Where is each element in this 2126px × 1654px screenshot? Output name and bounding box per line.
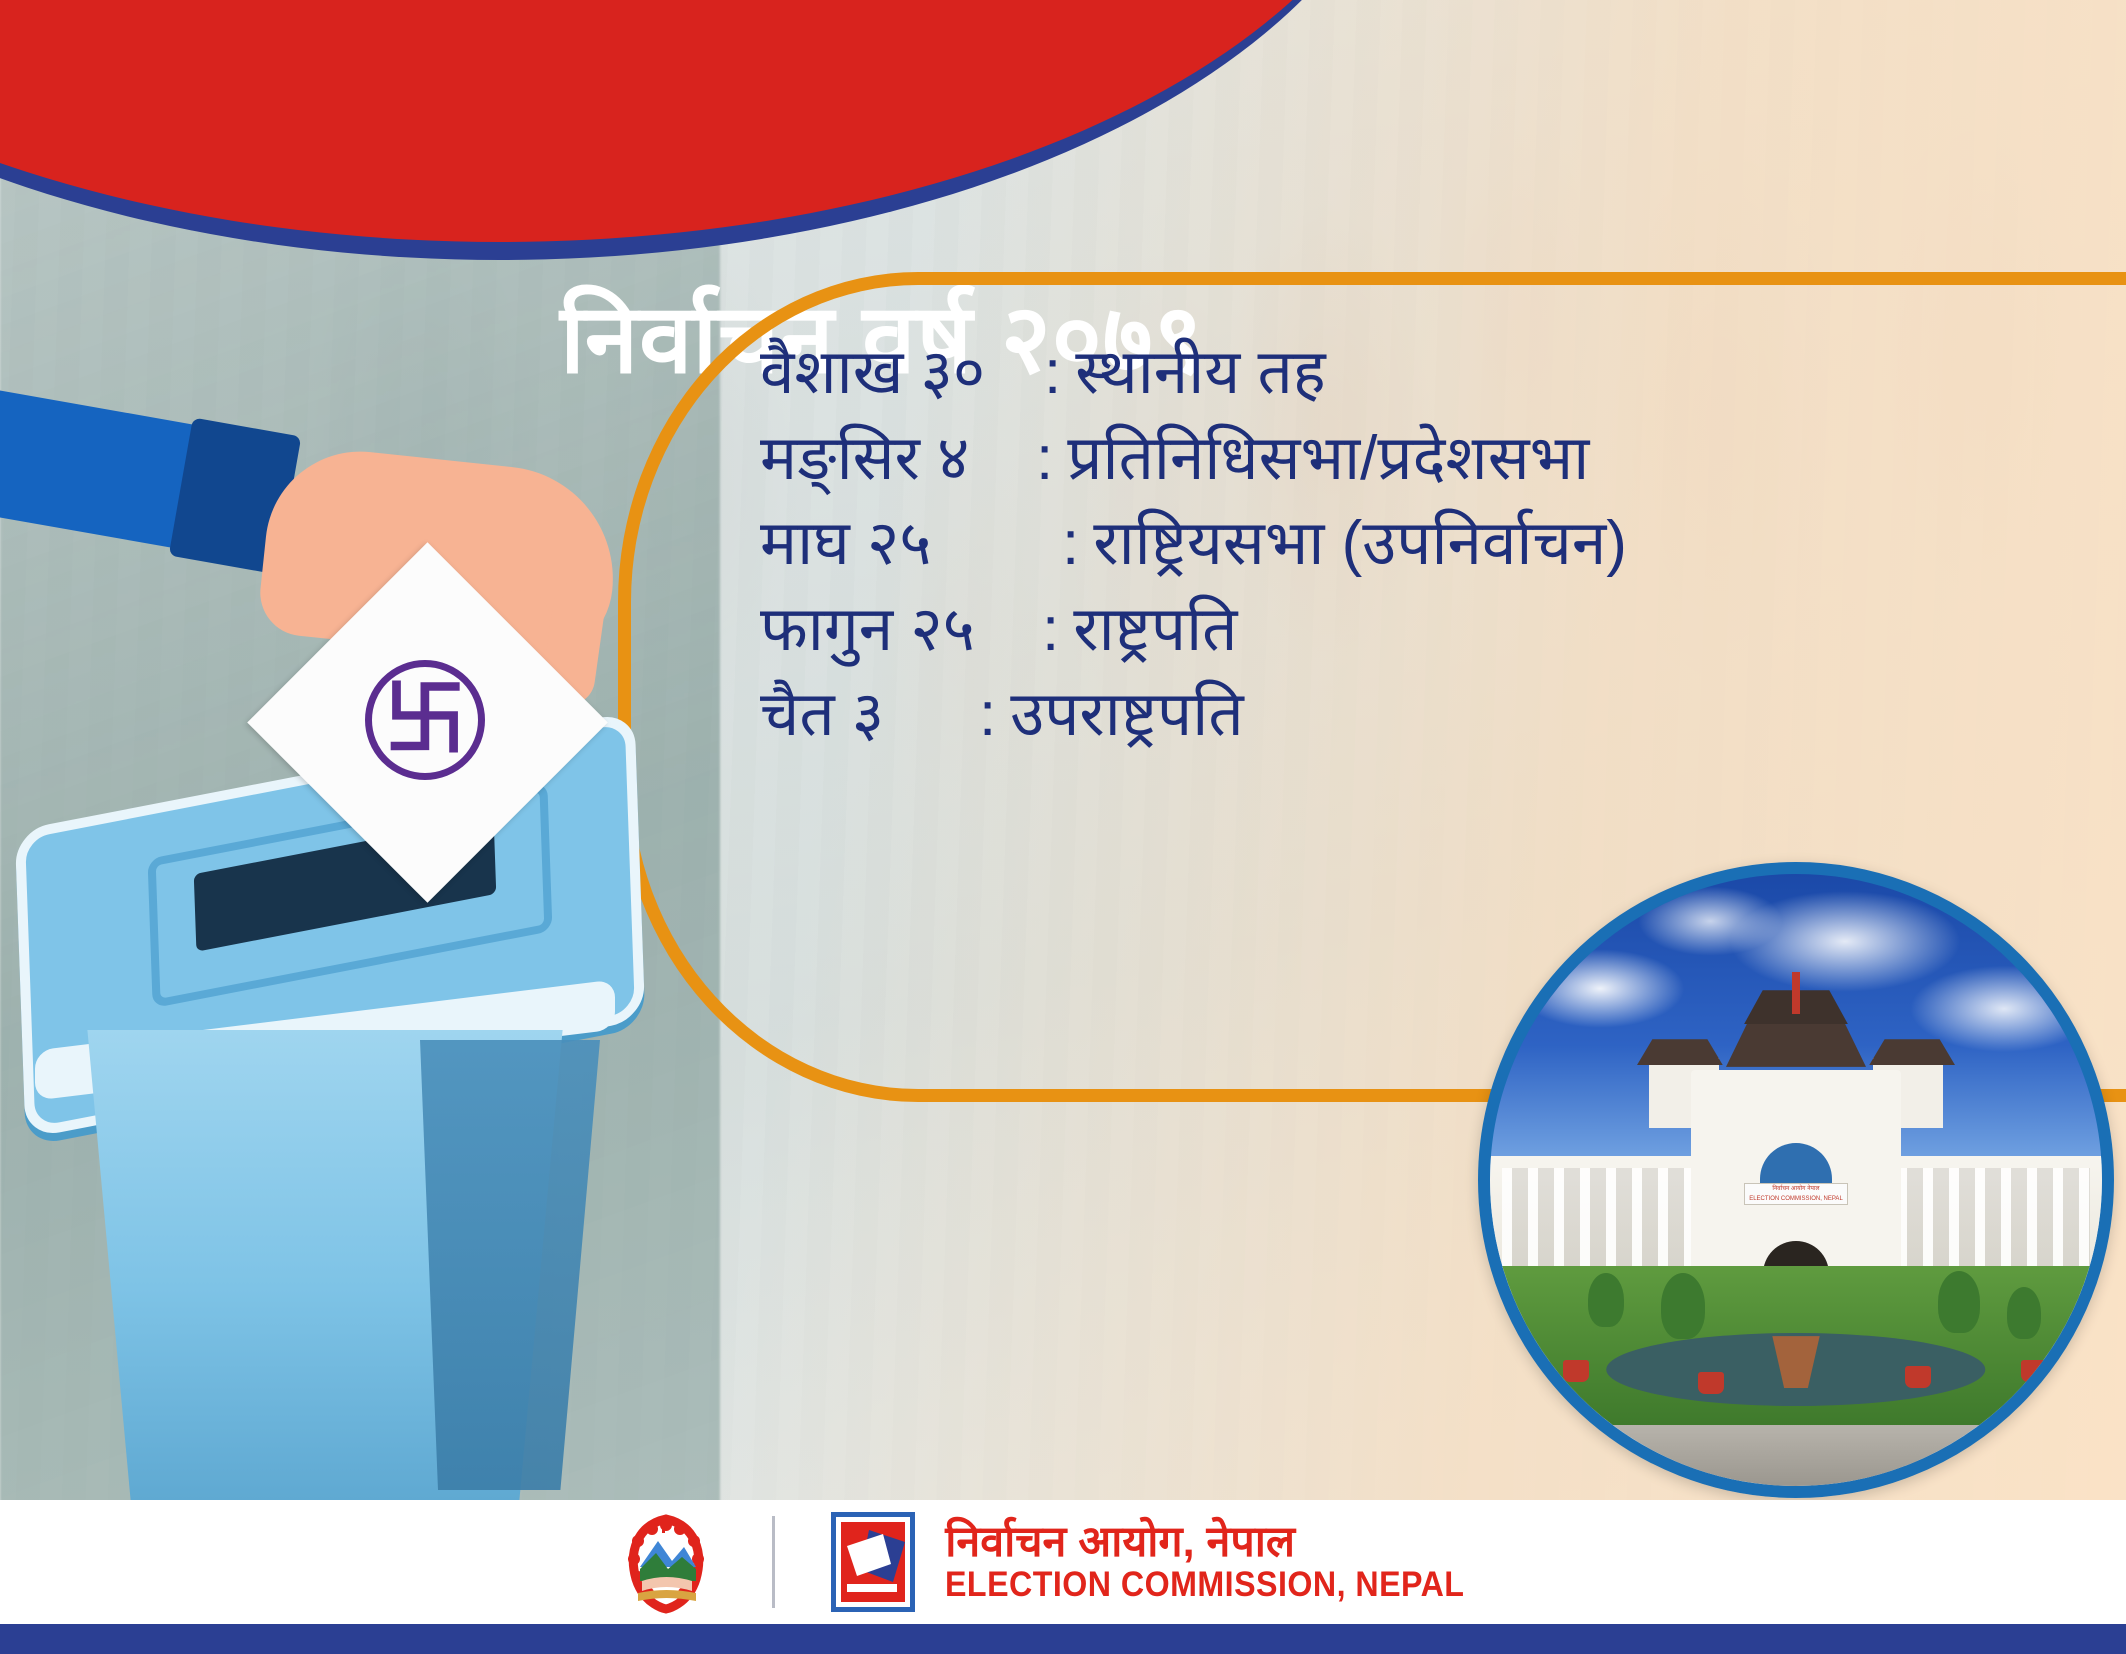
poster-root: निर्वाचन वर्ष २०७९ वैशाख ३० : स्थानीय तह… <box>0 0 2126 1654</box>
schedule-event: राष्ट्रपति <box>1073 587 1237 673</box>
schedule-row: चैत ३ : उपराष्ट्रपति <box>760 672 2000 758</box>
building-name-sign: निर्वाचन आयोग नेपाल ELECTION COMMISSION,… <box>1744 1183 1848 1205</box>
shrub-icon <box>1588 1273 1624 1327</box>
nepal-flag-icon <box>1792 972 1800 1014</box>
schedule-separator: : <box>1022 416 1067 502</box>
schedule-event: उपराष्ट्रपति <box>1010 672 1243 758</box>
schedule-row: मङ्सिर ४ : प्रतिनिधिसभा/प्रदेशसभा <box>760 416 2000 502</box>
schedule-separator: : <box>1028 587 1073 673</box>
footer-org-name-en: ELECTION COMMISSION, NEPAL <box>945 1566 1464 1605</box>
footer-bar: निर्वाचन आयोग, नेपाल ELECTION COMMISSION… <box>0 1500 2126 1624</box>
election-schedule-list: वैशाख ३० : स्थानीय तह मङ्सिर ४ : प्रतिनि… <box>760 330 2000 758</box>
schedule-row: वैशाख ३० : स्थानीय तह <box>760 330 2000 416</box>
nepal-national-emblem-icon <box>616 1509 716 1615</box>
flower-pot-icon <box>2021 1360 2047 1382</box>
flower-pot-icon <box>1563 1360 1589 1382</box>
building-tower-roof <box>1726 1021 1866 1067</box>
election-commission-building-photo: निर्वाचन आयोग नेपाल ELECTION COMMISSION,… <box>1478 862 2114 1498</box>
building-sign-np: निर्वाचन आयोग नेपाल <box>1745 1184 1847 1194</box>
footer-org-text: निर्वाचन आयोग, नेपाल ELECTION COMMISSION… <box>945 1519 1510 1605</box>
building-sign-en: ELECTION COMMISSION, NEPAL <box>1745 1194 1847 1204</box>
shrub-icon <box>1661 1273 1705 1339</box>
schedule-event: स्थानीय तह <box>1075 330 1325 416</box>
schedule-date: वैशाख ३० <box>760 330 1030 416</box>
schedule-event: राष्ट्रियसभा (उपनिर्वाचन) <box>1093 501 1627 587</box>
election-commission-logo-icon <box>831 1512 915 1612</box>
schedule-separator: : <box>1048 501 1093 587</box>
schedule-event: प्रतिनिधिसभा/प्रदेशसभा <box>1067 416 1589 502</box>
schedule-separator: : <box>1030 330 1075 416</box>
ballot-box-illustration: 卐 <box>0 430 820 1520</box>
footer-org-name-np: निर्वाचन आयोग, नेपाल <box>945 1519 1510 1566</box>
building-road <box>1490 1425 2102 1486</box>
bottom-accent-strip <box>0 1624 2126 1654</box>
shrub-icon <box>1938 1271 1980 1333</box>
schedule-row: फागुन २५ : राष्ट्रपति <box>760 587 2000 673</box>
schedule-row: माघ २५ : राष्ट्रियसभा (उपनिर्वाचन) <box>760 501 2000 587</box>
flower-pot-icon <box>1698 1372 1724 1394</box>
shrub-icon <box>2007 1287 2041 1339</box>
schedule-separator: : <box>965 672 1010 758</box>
footer-divider <box>772 1516 775 1608</box>
flower-pot-icon <box>1905 1366 1931 1388</box>
ballot-box-side <box>420 1040 600 1490</box>
footer-content: निर्वाचन आयोग, नेपाल ELECTION COMMISSION… <box>616 1509 1510 1615</box>
ballot-symbol-icon: 卐 <box>365 660 485 780</box>
